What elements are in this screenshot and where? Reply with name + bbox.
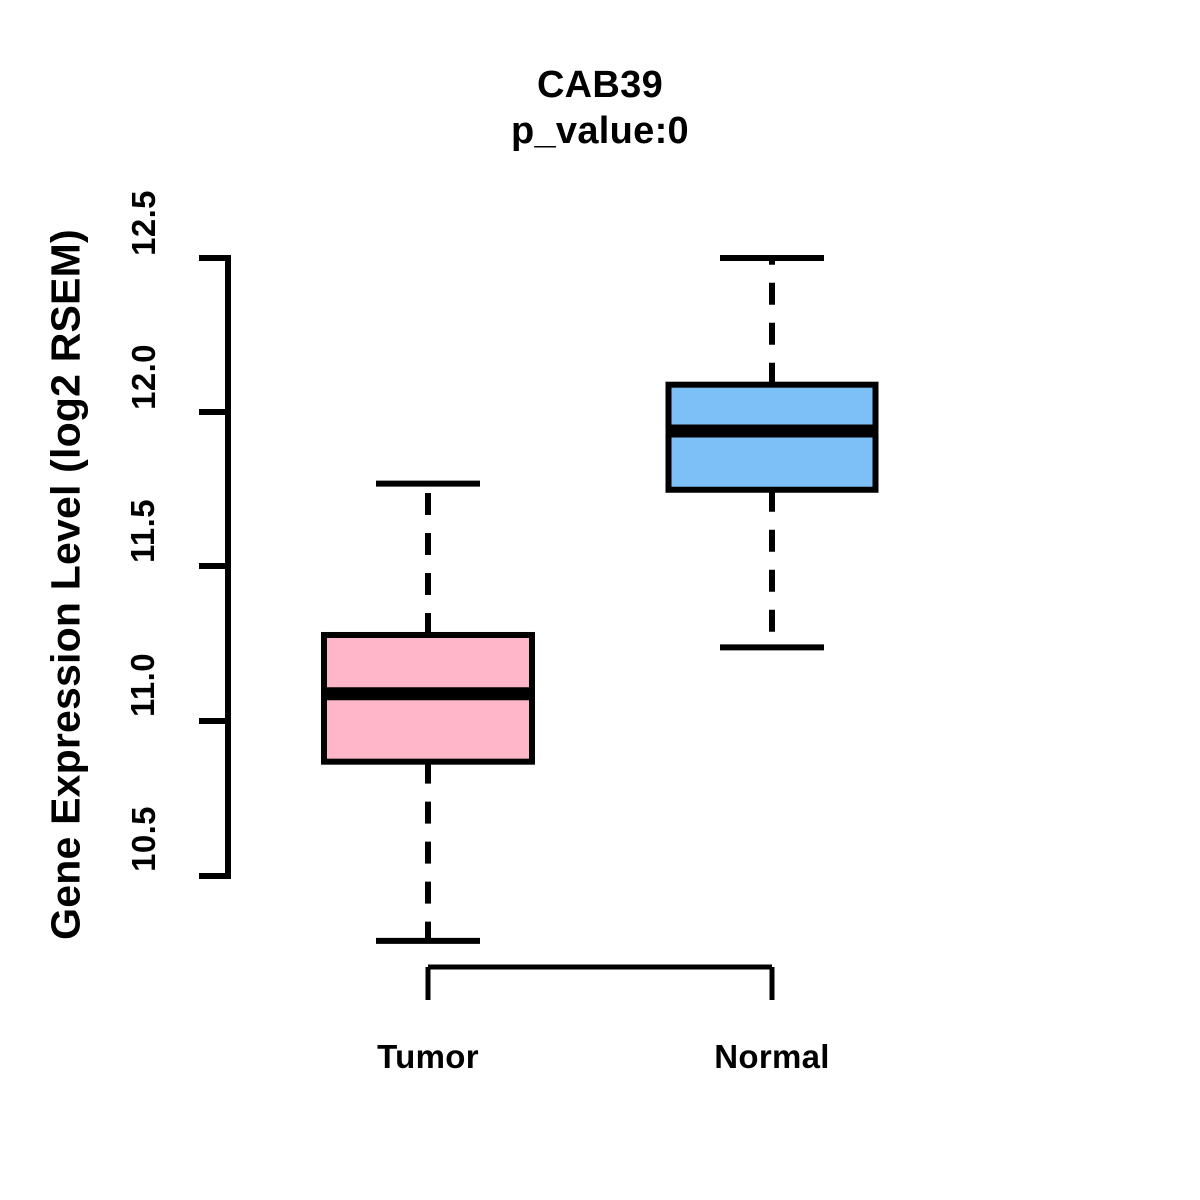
boxplot-figure: CAB39 p_value:0 Gene Expression Level (l…	[0, 0, 1200, 1200]
box-normal	[669, 258, 876, 647]
plot-area	[0, 0, 1200, 1200]
x-axis	[428, 967, 772, 1000]
y-axis	[199, 258, 231, 876]
box-tumor	[324, 484, 532, 941]
